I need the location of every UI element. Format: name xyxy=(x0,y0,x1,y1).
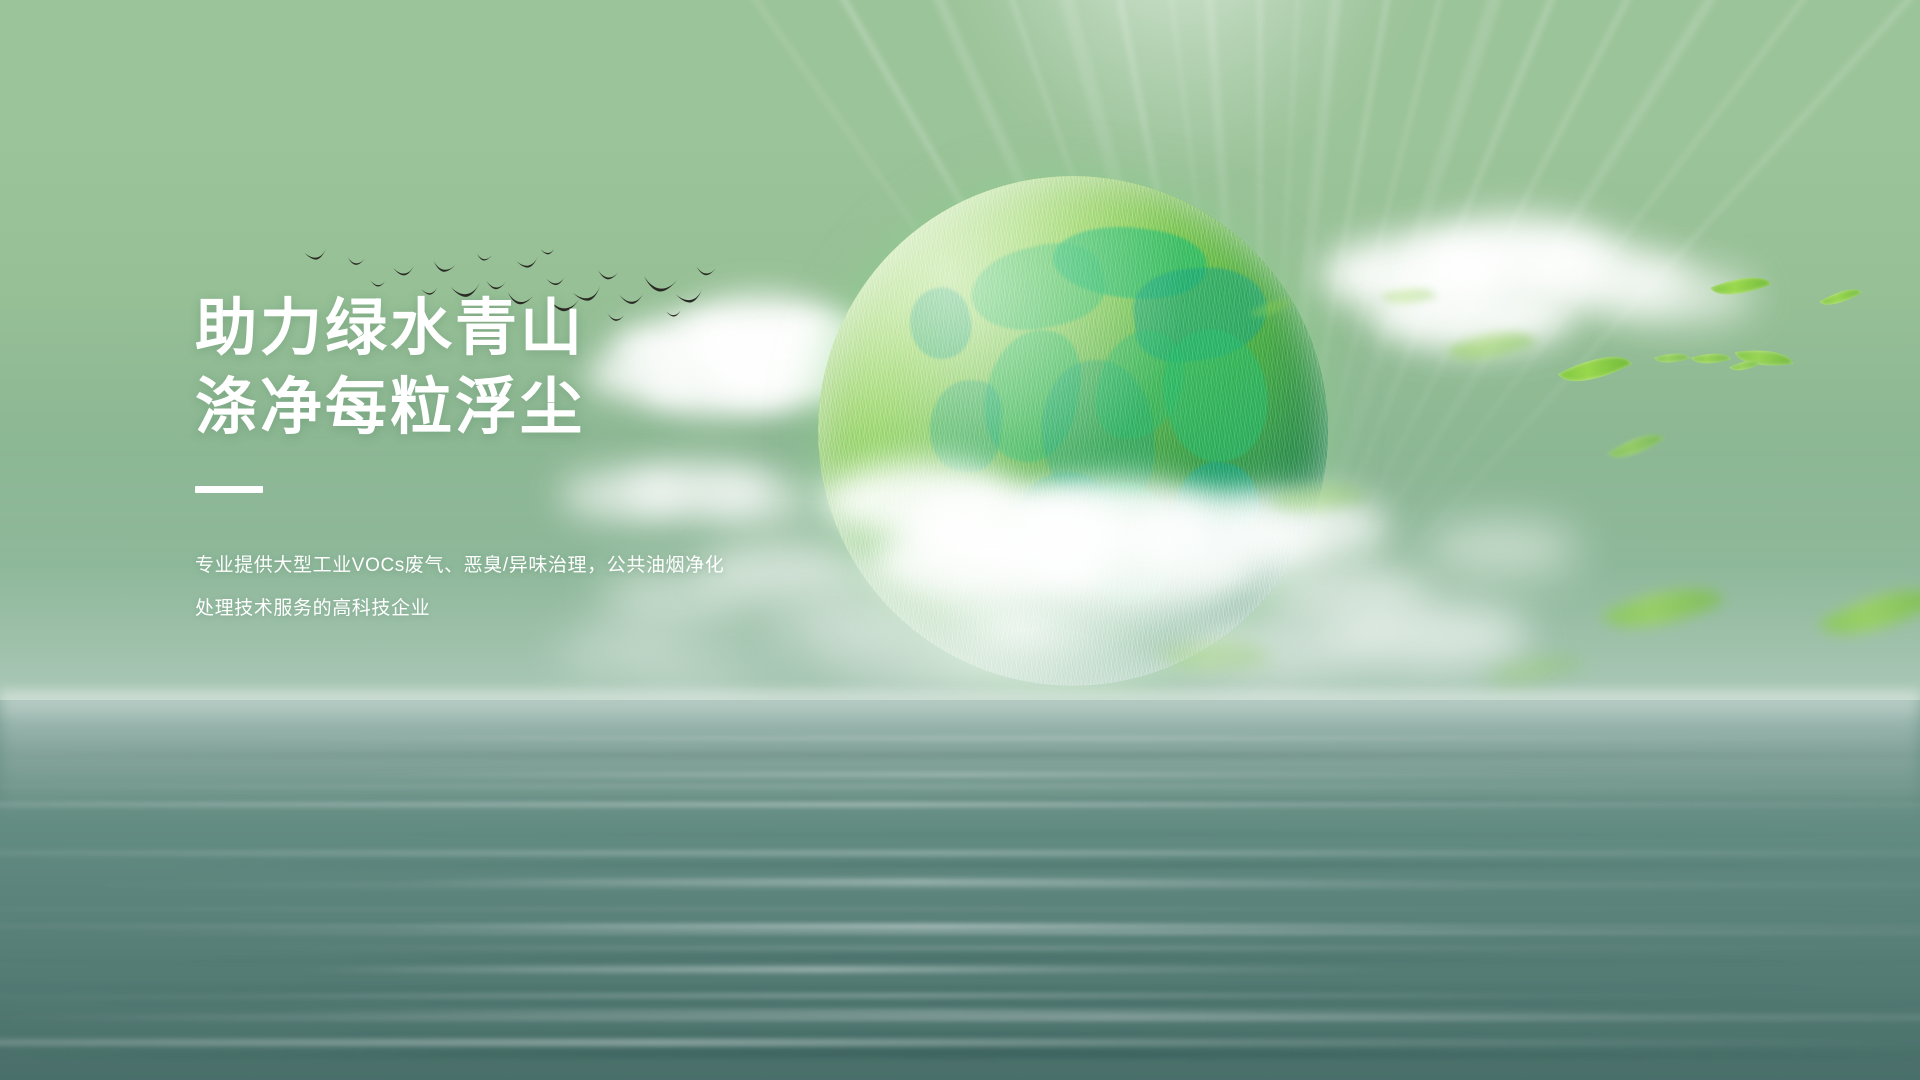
title-divider xyxy=(195,486,263,493)
leaf-icon xyxy=(1445,314,1537,378)
leaf-icon xyxy=(1600,562,1725,653)
leaf-icon xyxy=(1654,347,1690,369)
headline-line-1: 助力绿水青山 xyxy=(195,294,585,363)
hero-banner: 助力绿水青山 涤净每粒浮尘 专业提供大型工业VOCs废气、恶臭/异味治理，公共油… xyxy=(0,0,1920,1080)
leaf-icon xyxy=(1267,465,1370,532)
leaf-icon xyxy=(1558,341,1632,397)
leaf-icon xyxy=(1710,266,1771,306)
leaf-icon xyxy=(1819,280,1862,313)
leaf-icon xyxy=(1380,278,1438,314)
leaf-icon xyxy=(1691,347,1731,370)
leaf-icon xyxy=(1817,563,1920,661)
hero-description: 专业提供大型工业VOCs废气、恶臭/异味治理，公共油烟净化处理技术服务的高科技企… xyxy=(195,545,725,631)
leaf-icon xyxy=(1157,623,1273,688)
leaf-icon xyxy=(1485,634,1587,704)
headline-line-2: 涤净每粒浮尘 xyxy=(195,375,955,442)
page-title: 助力绿水青山 涤净每粒浮尘 xyxy=(195,296,955,442)
hero-copy: 助力绿水青山 涤净每粒浮尘 专业提供大型工业VOCs废气、恶臭/异味治理，公共油… xyxy=(195,296,955,630)
leaf-icon xyxy=(1607,422,1665,470)
leaf-icon xyxy=(1249,290,1293,327)
